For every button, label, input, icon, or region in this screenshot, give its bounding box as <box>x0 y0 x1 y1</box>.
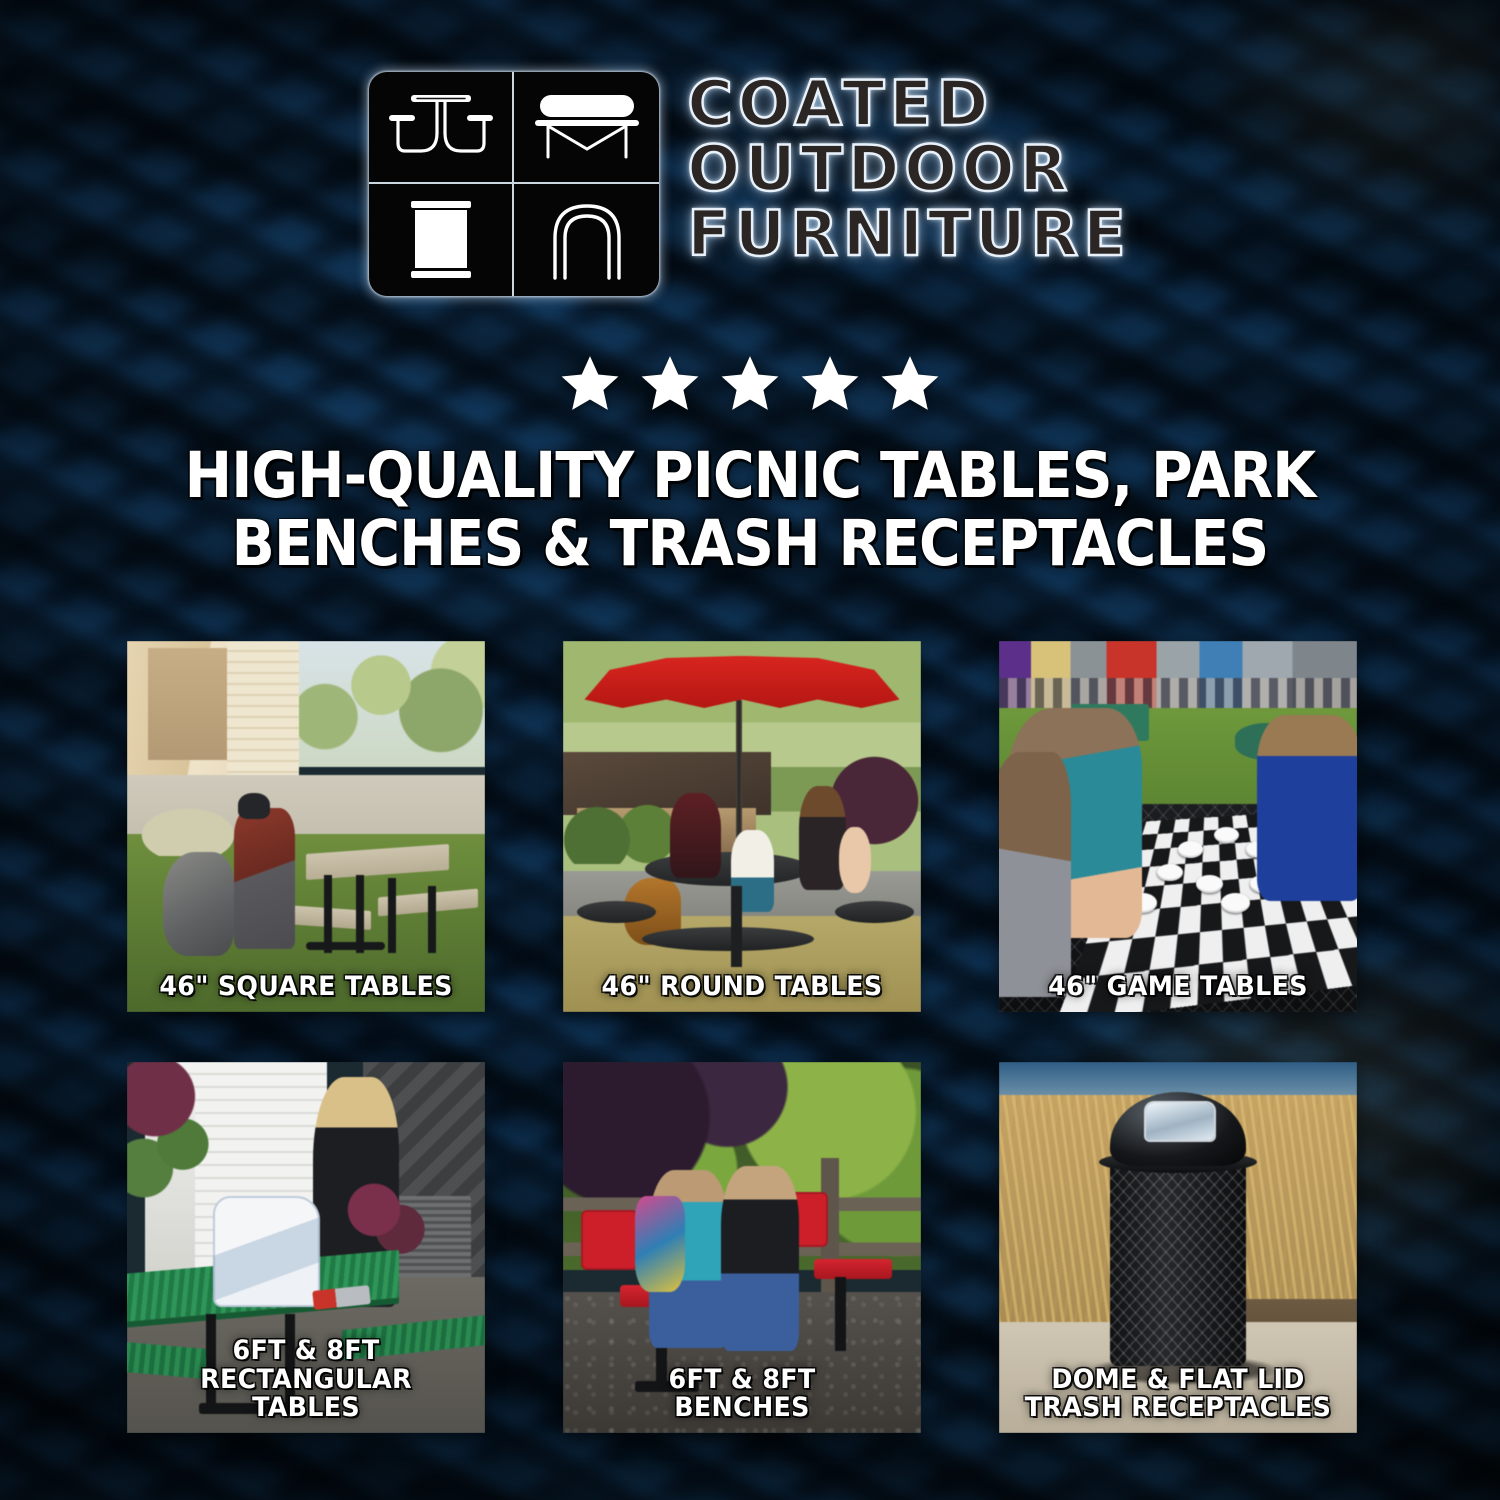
product-photo-round-tables <box>563 641 921 1012</box>
star-icon <box>718 352 782 414</box>
trash-receptacle-icon <box>369 184 514 296</box>
product-grid: 46" SQUARE TABLES <box>127 641 1373 1433</box>
caption-line-1: 46" GAME TABLES <box>1015 973 1340 1002</box>
logo-line-3: FURNITURE <box>687 204 1130 265</box>
star-rating <box>0 352 1500 414</box>
caption-line-1: 46" SQUARE TABLES <box>143 973 468 1002</box>
caption-line-2: RECTANGULAR TABLES <box>143 1366 468 1423</box>
logo-icon-grid <box>369 72 659 296</box>
logo-line-1: COATED <box>687 74 1130 135</box>
product-photo-game-tables <box>999 641 1357 1012</box>
logo-wordmark: COATED OUTDOOR FURNITURE <box>687 72 1130 264</box>
product-caption: 6FT & 8FT BENCHES <box>574 1366 911 1423</box>
brand-logo: COATED OUTDOOR FURNITURE <box>0 72 1500 296</box>
star-icon <box>558 352 622 414</box>
product-tile-benches[interactable]: 6FT & 8FT BENCHES <box>563 1062 921 1433</box>
product-tile-rectangular-tables[interactable]: 6FT & 8FT RECTANGULAR TABLES <box>127 1062 485 1433</box>
star-icon <box>878 352 942 414</box>
product-photo-square-tables <box>127 641 485 1012</box>
star-icon <box>638 352 702 414</box>
headline-line-1: HIGH-QUALITY PICNIC TABLES, PARK <box>75 442 1425 510</box>
picnic-table-icon <box>369 72 514 184</box>
headline: HIGH-QUALITY PICNIC TABLES, PARK BENCHES… <box>75 442 1425 578</box>
product-tile-round-tables[interactable]: 46" ROUND TABLES <box>563 641 921 1012</box>
caption-line-2: BENCHES <box>579 1394 904 1423</box>
caption-line-1: 46" ROUND TABLES <box>579 973 904 1002</box>
product-caption: 46" SQUARE TABLES <box>138 973 475 1002</box>
product-tile-game-tables[interactable]: 46" GAME TABLES <box>999 641 1357 1012</box>
product-tile-trash-receptacles[interactable]: DOME & FLAT LID TRASH RECEPTACLES <box>999 1062 1357 1433</box>
headline-line-2: BENCHES & TRASH RECEPTACLES <box>75 510 1425 578</box>
product-tile-square-tables[interactable]: 46" SQUARE TABLES <box>127 641 485 1012</box>
promotional-poster: COATED OUTDOOR FURNITURE HIGH-QUALITY PI… <box>0 0 1500 1500</box>
star-icon <box>798 352 862 414</box>
product-caption: 6FT & 8FT RECTANGULAR TABLES <box>138 1337 475 1423</box>
caption-line-1: DOME & FLAT LID <box>1015 1366 1340 1395</box>
caption-line-1: 6FT & 8FT <box>579 1366 904 1395</box>
caption-line-1: 6FT & 8FT <box>143 1337 468 1366</box>
logo-line-2: OUTDOOR <box>687 139 1130 200</box>
caption-line-2: TRASH RECEPTACLES <box>1015 1394 1340 1423</box>
product-caption: 46" ROUND TABLES <box>574 973 911 1002</box>
bench-icon <box>514 72 659 184</box>
product-caption: DOME & FLAT LID TRASH RECEPTACLES <box>1010 1366 1347 1423</box>
bike-rack-arch-icon <box>514 184 659 296</box>
product-caption: 46" GAME TABLES <box>1010 973 1347 1002</box>
